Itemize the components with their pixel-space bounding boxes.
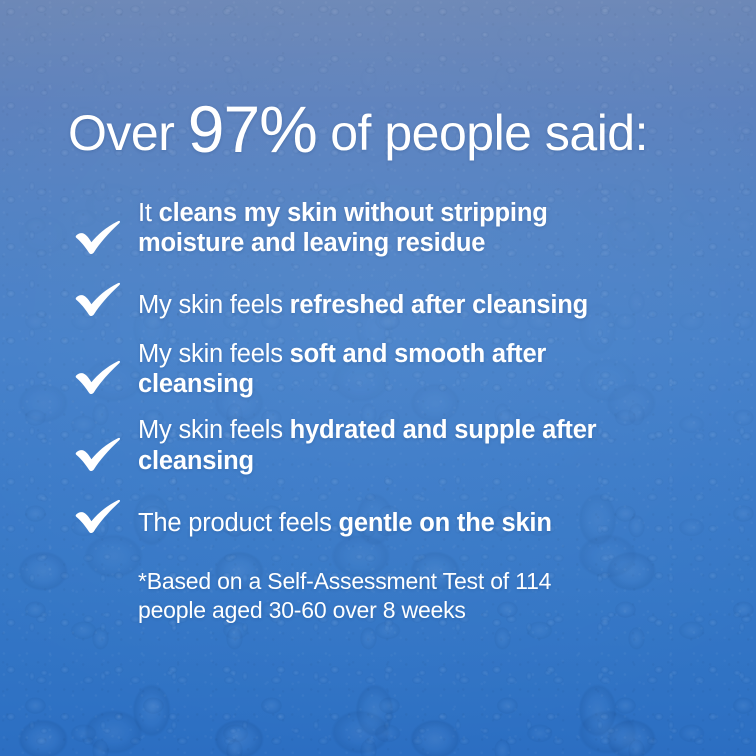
poster-content: Over 97% of people said: It cleans my sk…: [0, 0, 756, 756]
list-item-label: The product feels gentle on the skin: [138, 508, 552, 538]
footnote-disclaimer: *Based on a Self-Assessment Test of 114 …: [138, 567, 608, 625]
list-item-label: My skin feels refreshed after cleansing: [138, 290, 588, 320]
claims-list: It cleans my skin without stripping mois…: [0, 198, 756, 556]
headline-suffix: of people said:: [317, 105, 648, 161]
checkmark-icon: [74, 496, 122, 534]
claim-lead: The product feels: [138, 509, 339, 537]
list-item-label: My skin feels hydrated and supple after …: [138, 415, 658, 476]
claim-lead: It: [138, 199, 159, 227]
list-item-label: My skin feels soft and smooth after clea…: [138, 339, 658, 400]
headline-prefix: Over: [68, 105, 188, 161]
checkmark-icon: [74, 434, 122, 472]
list-item: My skin feels soft and smooth after clea…: [0, 339, 756, 400]
page-title: Over 97% of people said:: [68, 96, 648, 162]
claim-emphasis: gentle on the skin: [339, 509, 552, 537]
checkmark-icon: [74, 217, 122, 255]
headline-stat: 97%: [188, 92, 317, 166]
list-item: The product feels gentle on the skin: [0, 492, 756, 538]
promo-poster: Over 97% of people said: It cleans my sk…: [0, 0, 756, 756]
list-item-label: It cleans my skin without stripping mois…: [138, 198, 658, 259]
claim-lead: My skin feels: [138, 340, 290, 368]
checkmark-icon: [74, 357, 122, 395]
list-item: It cleans my skin without stripping mois…: [0, 198, 756, 259]
claim-lead: My skin feels: [138, 291, 290, 319]
checkmark-icon: [74, 279, 122, 317]
claim-lead: My skin feels: [138, 416, 290, 444]
list-item: My skin feels hydrated and supple after …: [0, 415, 756, 476]
claim-emphasis: refreshed after cleansing: [290, 291, 588, 319]
list-item: My skin feels refreshed after cleansing: [0, 275, 756, 321]
claim-emphasis: cleans my skin without stripping moistur…: [138, 199, 548, 257]
